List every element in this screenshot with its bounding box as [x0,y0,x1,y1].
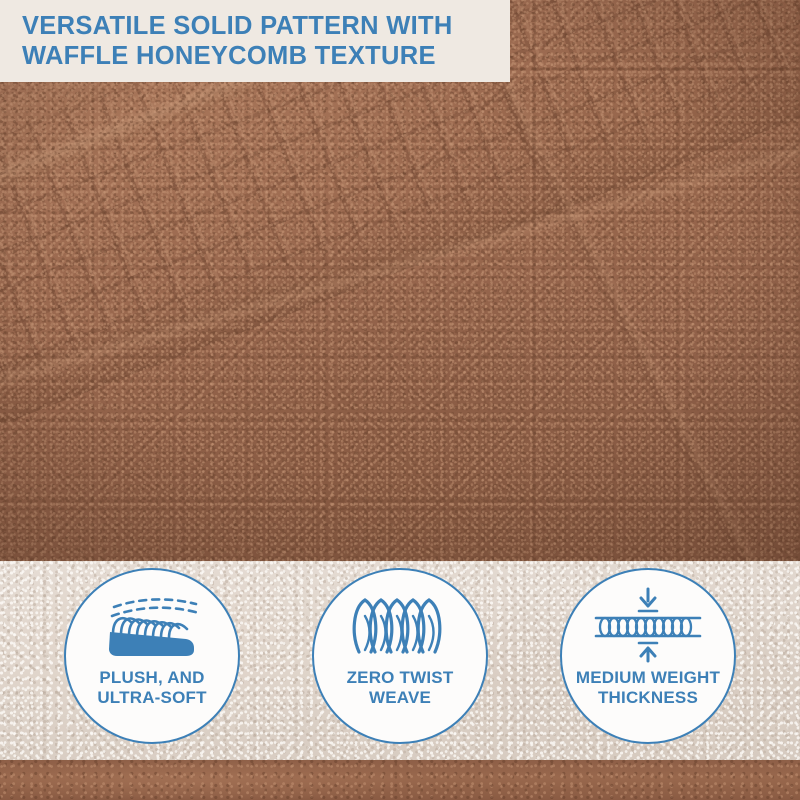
badge-label-line-2: ULTRA-SOFT [97,688,206,707]
headline-line-2: WAFFLE HONEYCOMB TEXTURE [22,41,510,71]
badge-label-zero-twist: ZERO TWIST WEAVE [347,668,454,709]
headline-line-1: VERSATILE SOLID PATTERN WITH [22,11,510,41]
thickness-arrows-coil-icon [592,588,704,662]
feature-badge-thickness: MEDIUM WEIGHT THICKNESS [560,568,736,744]
product-feature-graphic: VERSATILE SOLID PATTERN WITH WAFFLE HONE… [0,0,800,800]
badge-label-thickness: MEDIUM WEIGHT THICKNESS [576,668,720,709]
photo-vignette [0,0,800,561]
plush-pile-icon [100,588,204,662]
headline-banner: VERSATILE SOLID PATTERN WITH WAFFLE HONE… [0,0,510,82]
feature-badges: PLUSH, AND ULTRA-SOFT [0,561,800,760]
badge-label-line-1: MEDIUM WEIGHT [576,668,720,687]
feature-badge-zero-twist: ZERO TWIST WEAVE [312,568,488,744]
badge-label-plush: PLUSH, AND ULTRA-SOFT [97,668,206,709]
bottom-towel-strip [0,760,800,800]
feature-badge-plush: PLUSH, AND ULTRA-SOFT [64,568,240,744]
badge-label-line-1: ZERO TWIST [347,668,454,687]
zero-twist-yarn-loops-icon [349,588,451,662]
bottom-strip-speckle [0,760,800,800]
badge-label-line-1: PLUSH, AND [99,668,204,687]
badge-label-line-2: THICKNESS [598,688,698,707]
badge-label-line-2: WEAVE [369,688,431,707]
towel-photo [0,0,800,561]
